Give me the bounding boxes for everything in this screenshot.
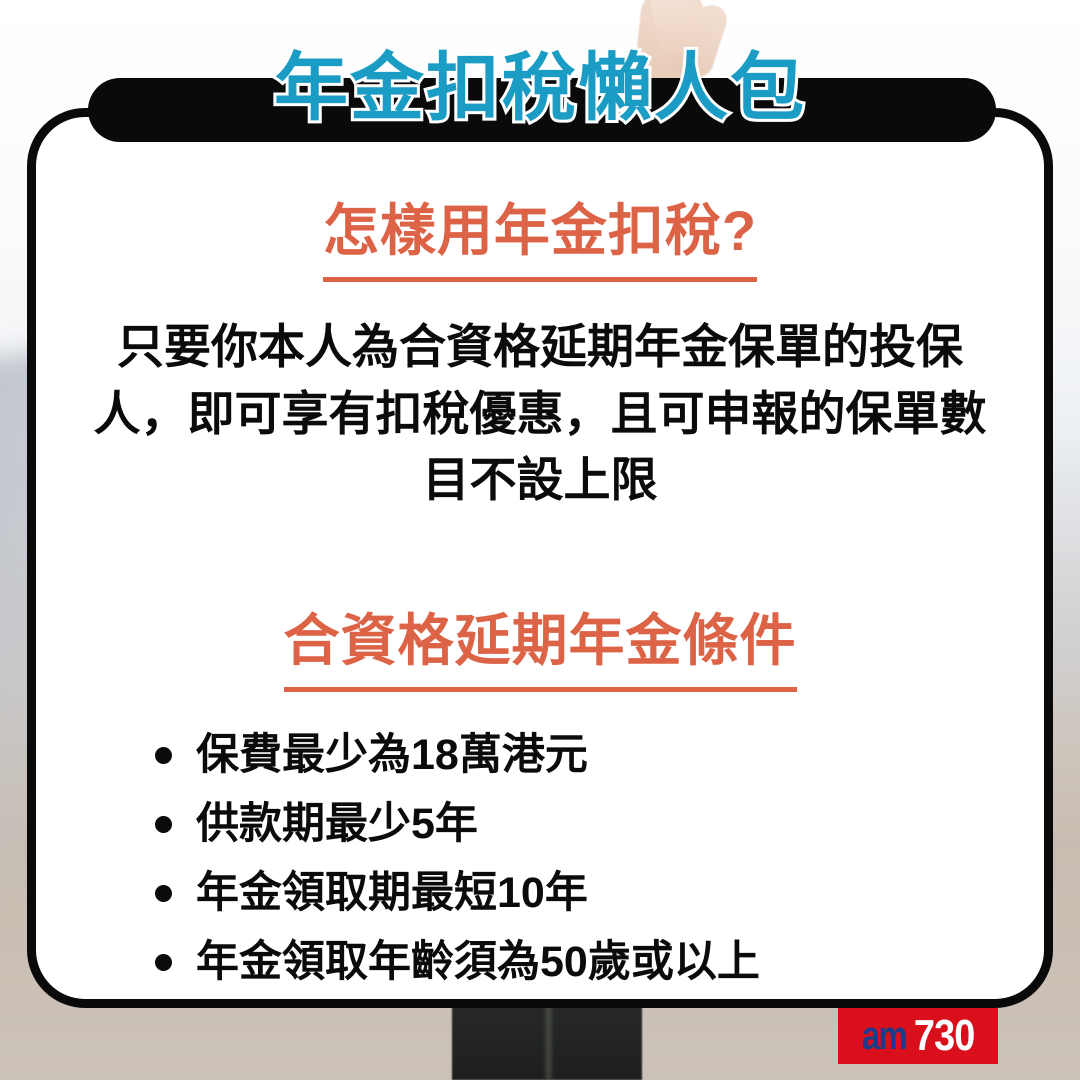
bullet-dot-icon: [155, 954, 172, 971]
condition-text: 供款期最少5年: [196, 797, 1011, 852]
poster-main-title: 年金扣稅懶人包: [0, 28, 1080, 135]
list-item: 保費最少為18萬港元: [155, 728, 1011, 783]
logo-number-text: 730: [914, 1014, 975, 1058]
card-content: 怎樣用年金扣稅? 只要你本人為合資格延期年金保單的投保人，即可享有扣稅優惠，且可…: [27, 108, 1053, 1008]
bullet-dot-icon: [155, 747, 172, 764]
section-2-heading-wrap: 合資格延期年金條件: [69, 596, 1011, 692]
conditions-list: 保費最少為18萬港元 供款期最少5年 年金領取期最短10年 年金領取年齡須為50…: [69, 728, 1011, 990]
am730-logo: am 730: [838, 1008, 998, 1064]
condition-text: 年金領取年齡須為50歲或以上: [196, 935, 1011, 990]
list-item: 供款期最少5年: [155, 797, 1011, 852]
logo-prefix-text: am: [862, 1016, 906, 1056]
section-2-heading: 合資格延期年金條件: [284, 596, 797, 692]
list-item: 年金領取年齡須為50歲或以上: [155, 935, 1011, 990]
section-1-heading: 怎樣用年金扣稅?: [323, 186, 757, 282]
bullet-dot-icon: [155, 816, 172, 833]
list-item: 年金領取期最短10年: [155, 866, 1011, 921]
section-1-heading-wrap: 怎樣用年金扣稅?: [69, 186, 1011, 282]
condition-text: 保費最少為18萬港元: [196, 728, 1011, 783]
bullet-dot-icon: [155, 885, 172, 902]
intro-paragraph: 只要你本人為合資格延期年金保單的投保人，即可享有扣稅優惠，且可申報的保單數目不設…: [80, 314, 1000, 514]
condition-text: 年金領取期最短10年: [196, 866, 1011, 921]
infographic-poster: 年金扣稅懶人包 怎樣用年金扣稅? 只要你本人為合資格延期年金保單的投保人，即可享…: [0, 0, 1080, 1080]
